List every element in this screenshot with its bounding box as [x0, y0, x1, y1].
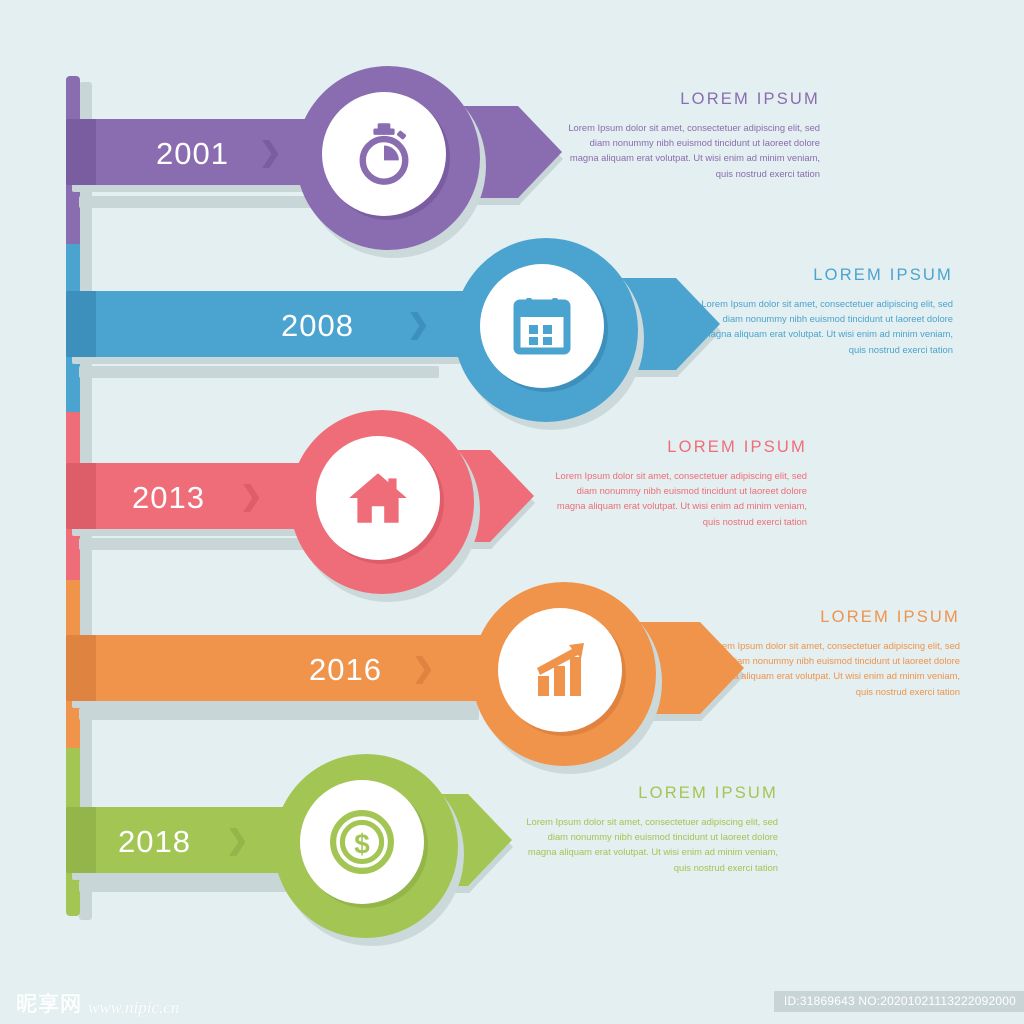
text-block-2016: LOREM IPSUM Lorem Ipsum dolor sit amet, …: [700, 608, 960, 699]
stopwatch-icon: [350, 120, 418, 188]
text-block-2008: LOREM IPSUM Lorem Ipsum dolor sit amet, …: [693, 266, 953, 357]
step-heading-2016: LOREM IPSUM: [700, 608, 960, 627]
text-block-2001: LOREM IPSUM Lorem Ipsum dolor sit amet, …: [560, 90, 820, 181]
chevron-right-icon-2016: ❯: [412, 655, 435, 682]
icon-disc-2008: [480, 264, 604, 388]
text-block-2018: LOREM IPSUM Lorem Ipsum dolor sit amet, …: [518, 784, 778, 875]
step-heading-2018: LOREM IPSUM: [518, 784, 778, 803]
bar-cap-2016: [66, 635, 96, 701]
year-label-2013: 2013: [132, 480, 205, 516]
asset-id-badge: ID:31869643 NO:20201021113222092000: [774, 991, 1024, 1012]
bar-cap-2008: [66, 291, 96, 357]
step-body-2013: Lorem Ipsum dolor sit amet, consectetuer…: [547, 468, 807, 529]
year-label-2018: 2018: [118, 824, 191, 860]
step-circle-2013[interactable]: [290, 410, 474, 594]
step-circle-2018[interactable]: $: [274, 754, 458, 938]
step-body-2001: Lorem Ipsum dolor sit amet, consectetuer…: [560, 120, 820, 181]
step-circle-2008[interactable]: [454, 238, 638, 422]
chevron-right-icon-2008: ❯: [407, 311, 430, 338]
icon-disc-2016: [498, 608, 622, 732]
arrow-head-2013: [490, 450, 534, 542]
step-circle-2001[interactable]: [296, 66, 480, 250]
rail-2013: [79, 538, 329, 550]
icon-disc-2018: $: [300, 780, 424, 904]
home-icon: [345, 465, 411, 531]
rail-2016: [79, 708, 479, 720]
step-circle-2016[interactable]: [472, 582, 656, 766]
site-name-cn: 昵享网: [16, 988, 82, 1018]
text-block-2013: LOREM IPSUM Lorem Ipsum dolor sit amet, …: [547, 438, 807, 529]
rail-2018: [79, 880, 309, 892]
bar-cap-2001: [66, 119, 96, 185]
arrow-head-2001: [518, 106, 562, 198]
chevron-right-icon-2018: ❯: [226, 827, 249, 854]
site-watermark: 昵享网 www.nipic.cn: [16, 988, 179, 1018]
arrow-head-2018: [468, 794, 512, 886]
dollar-coin-icon: $: [329, 809, 395, 875]
chevron-right-icon-2001: ❯: [259, 139, 282, 166]
year-label-2001: 2001: [156, 136, 229, 172]
icon-disc-2001: [322, 92, 446, 216]
site-url: www.nipic.cn: [88, 998, 179, 1018]
step-heading-2013: LOREM IPSUM: [547, 438, 807, 457]
infographic-canvas: 2001 ❯ LOREM IPSUM Lorem Ipsum dolor sit…: [0, 0, 1024, 1024]
step-body-2016: Lorem Ipsum dolor sit amet, consectetuer…: [700, 638, 960, 699]
step-heading-2008: LOREM IPSUM: [693, 266, 953, 285]
year-label-2008: 2008: [281, 308, 354, 344]
step-heading-2001: LOREM IPSUM: [560, 90, 820, 109]
svg-text:$: $: [354, 828, 370, 859]
icon-disc-2013: [316, 436, 440, 560]
step-body-2008: Lorem Ipsum dolor sit amet, consectetuer…: [693, 296, 953, 357]
step-body-2018: Lorem Ipsum dolor sit amet, consectetuer…: [518, 814, 778, 875]
calendar-icon: [510, 294, 574, 358]
bar-cap-2018: [66, 807, 96, 873]
chevron-right-icon-2013: ❯: [240, 483, 263, 510]
year-label-2016: 2016: [309, 652, 382, 688]
rail-2008: [79, 366, 439, 378]
bar-cap-2013: [66, 463, 96, 529]
bar-chart-growth-icon: [528, 638, 592, 702]
